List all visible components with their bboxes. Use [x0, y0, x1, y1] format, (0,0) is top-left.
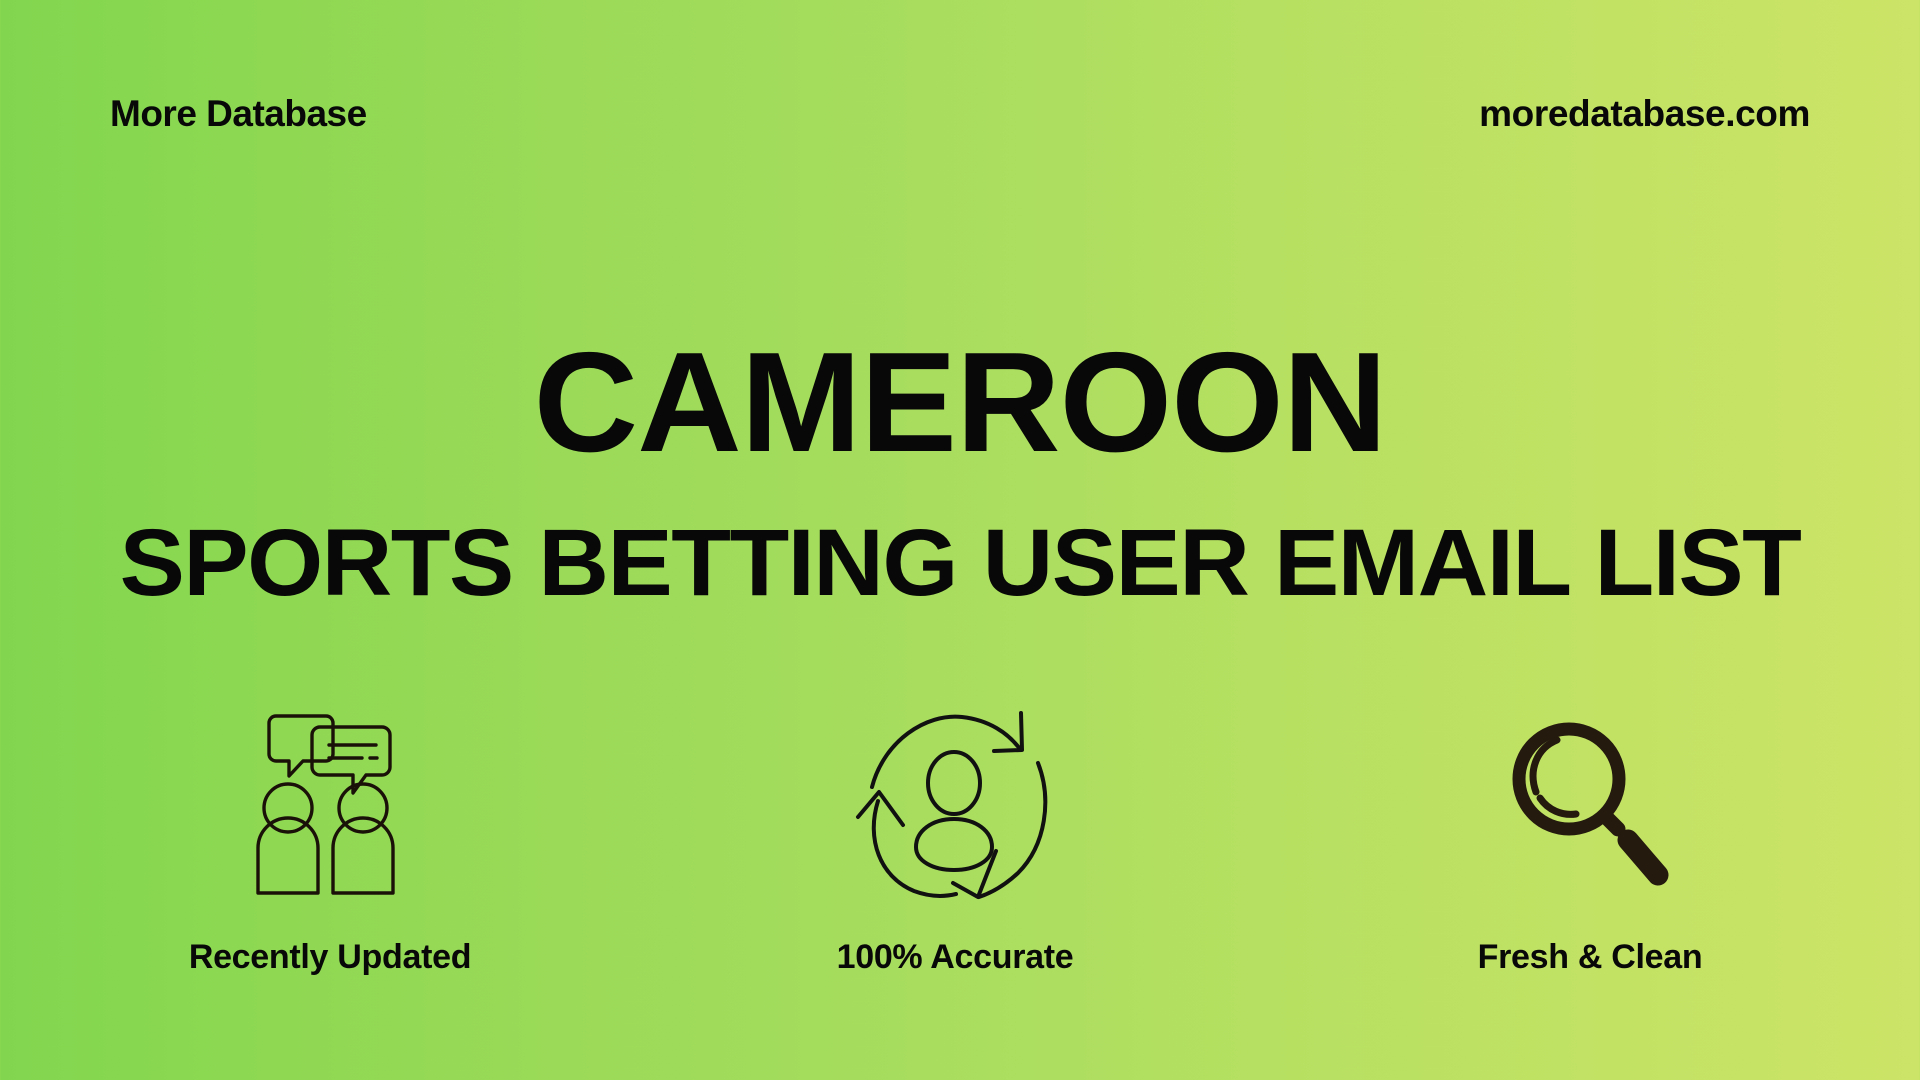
magnifying-glass-icon [1510, 720, 1670, 890]
page-subtitle: SPORTS BETTING USER EMAIL LIST [0, 516, 1920, 611]
hero-section: CAMEROON SPORTS BETTING USER EMAIL LIST [0, 332, 1920, 611]
feature-label: 100% Accurate [837, 940, 1074, 974]
feature-recently-updated: Recently Updated [95, 700, 565, 974]
page-header: More Database moredatabase.com [0, 84, 1920, 142]
feature-label: Fresh & Clean [1478, 940, 1703, 974]
feature-row: Recently Updated 1 [0, 700, 1920, 974]
feature-icon-wrapper [858, 700, 1053, 910]
page-title: CAMEROON [0, 332, 1920, 474]
feature-icon-wrapper [242, 700, 418, 910]
site-url: moredatabase.com [1479, 95, 1810, 132]
feature-accurate: 100% Accurate [720, 700, 1190, 974]
feature-label: Recently Updated [189, 940, 471, 974]
user-refresh-cycle-icon [858, 705, 1053, 905]
feature-fresh-clean: Fresh & Clean [1355, 700, 1825, 974]
feature-icon-wrapper [1510, 700, 1670, 910]
brand-name: More Database [110, 95, 367, 132]
two-people-chat-bubbles-icon [242, 710, 418, 900]
